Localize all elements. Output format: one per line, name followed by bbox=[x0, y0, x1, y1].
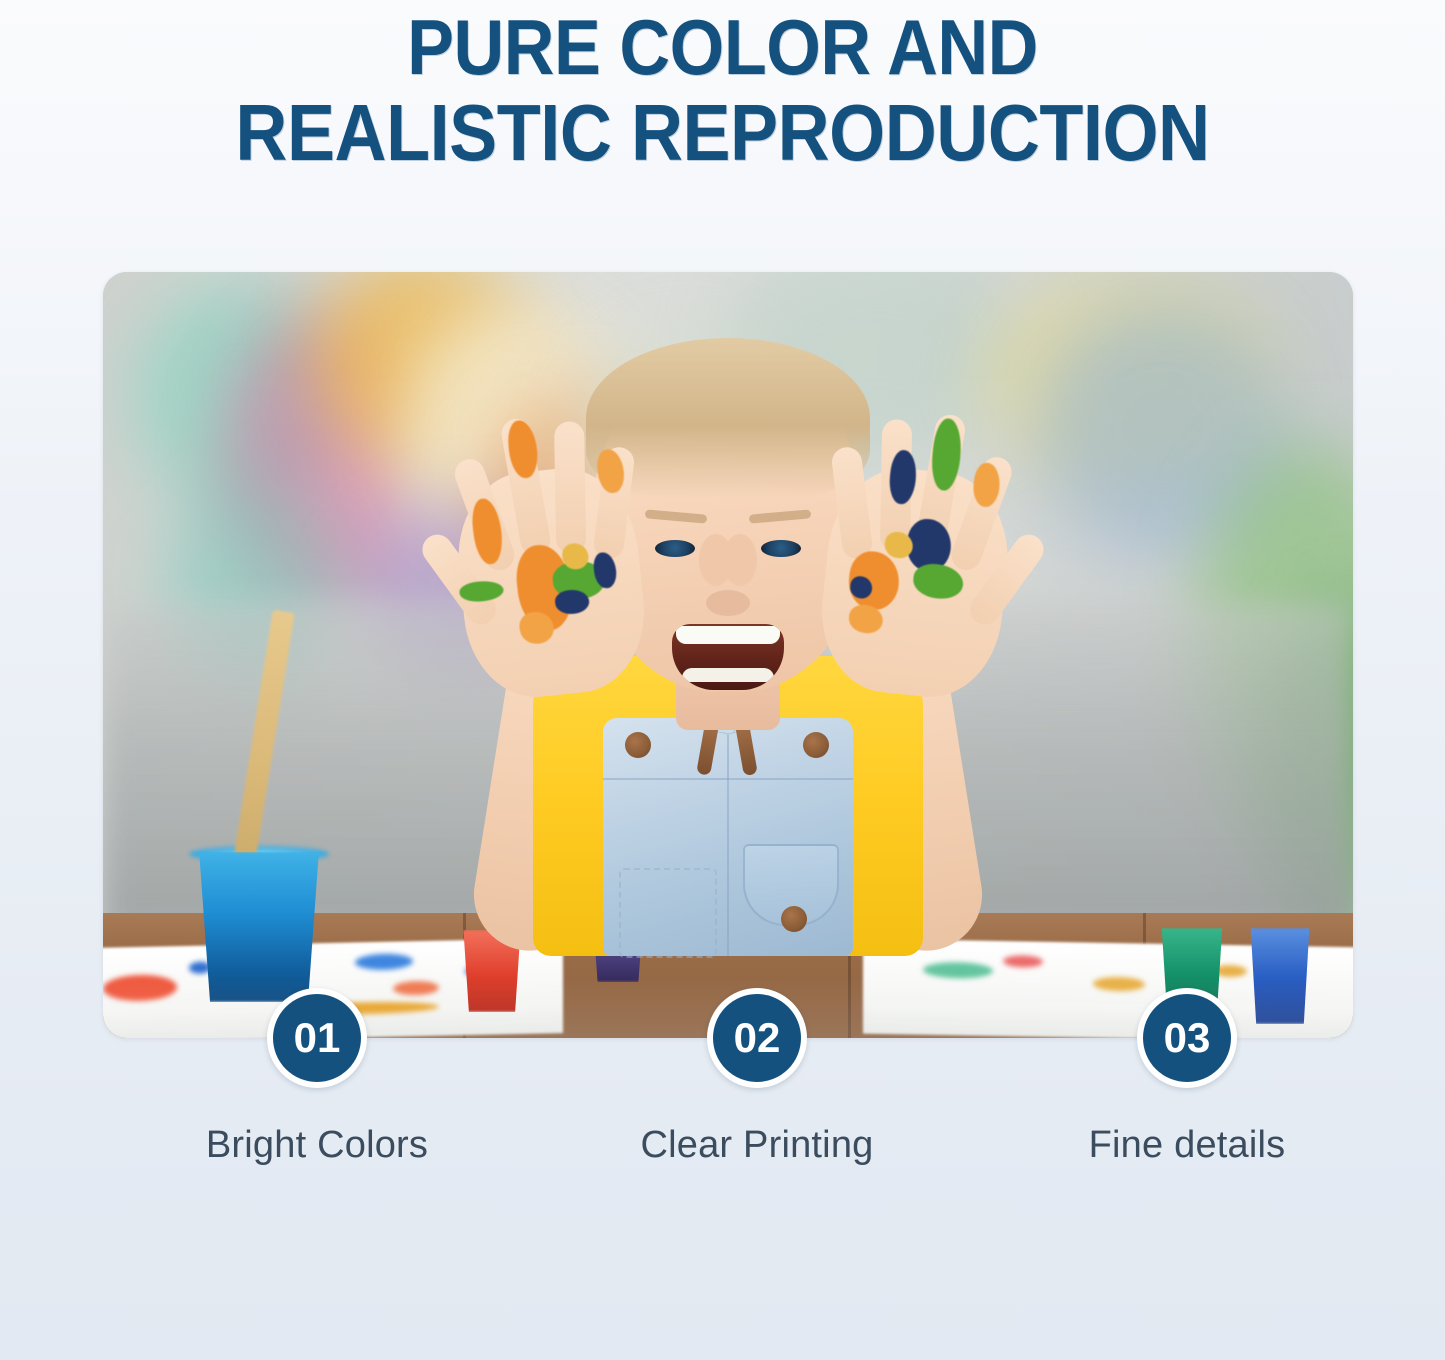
badge-number-02: 02 bbox=[707, 988, 807, 1088]
feature-label-02: Clear Printing bbox=[607, 1124, 907, 1167]
feature-item-03[interactable]: 03 Fine details bbox=[1037, 988, 1337, 1167]
feature-item-01[interactable]: 01 Bright Colors bbox=[167, 988, 467, 1167]
feature-label-03: Fine details bbox=[1037, 1124, 1337, 1167]
feature-item-02[interactable]: 02 Clear Printing bbox=[607, 988, 907, 1167]
page-title-line-2: REALISTIC REPRODUCTION bbox=[72, 90, 1373, 176]
feature-label-01: Bright Colors bbox=[167, 1124, 467, 1167]
feature-badge-row: 01 Bright Colors 02 Clear Printing 03 Fi… bbox=[103, 272, 1353, 1272]
badge-number-01: 01 bbox=[267, 988, 367, 1088]
badge-number-03: 03 bbox=[1137, 988, 1237, 1088]
page-title-line-1: PURE COLOR AND bbox=[72, 4, 1373, 90]
page-title: PURE COLOR AND REALISTIC REPRODUCTION bbox=[72, 4, 1373, 176]
